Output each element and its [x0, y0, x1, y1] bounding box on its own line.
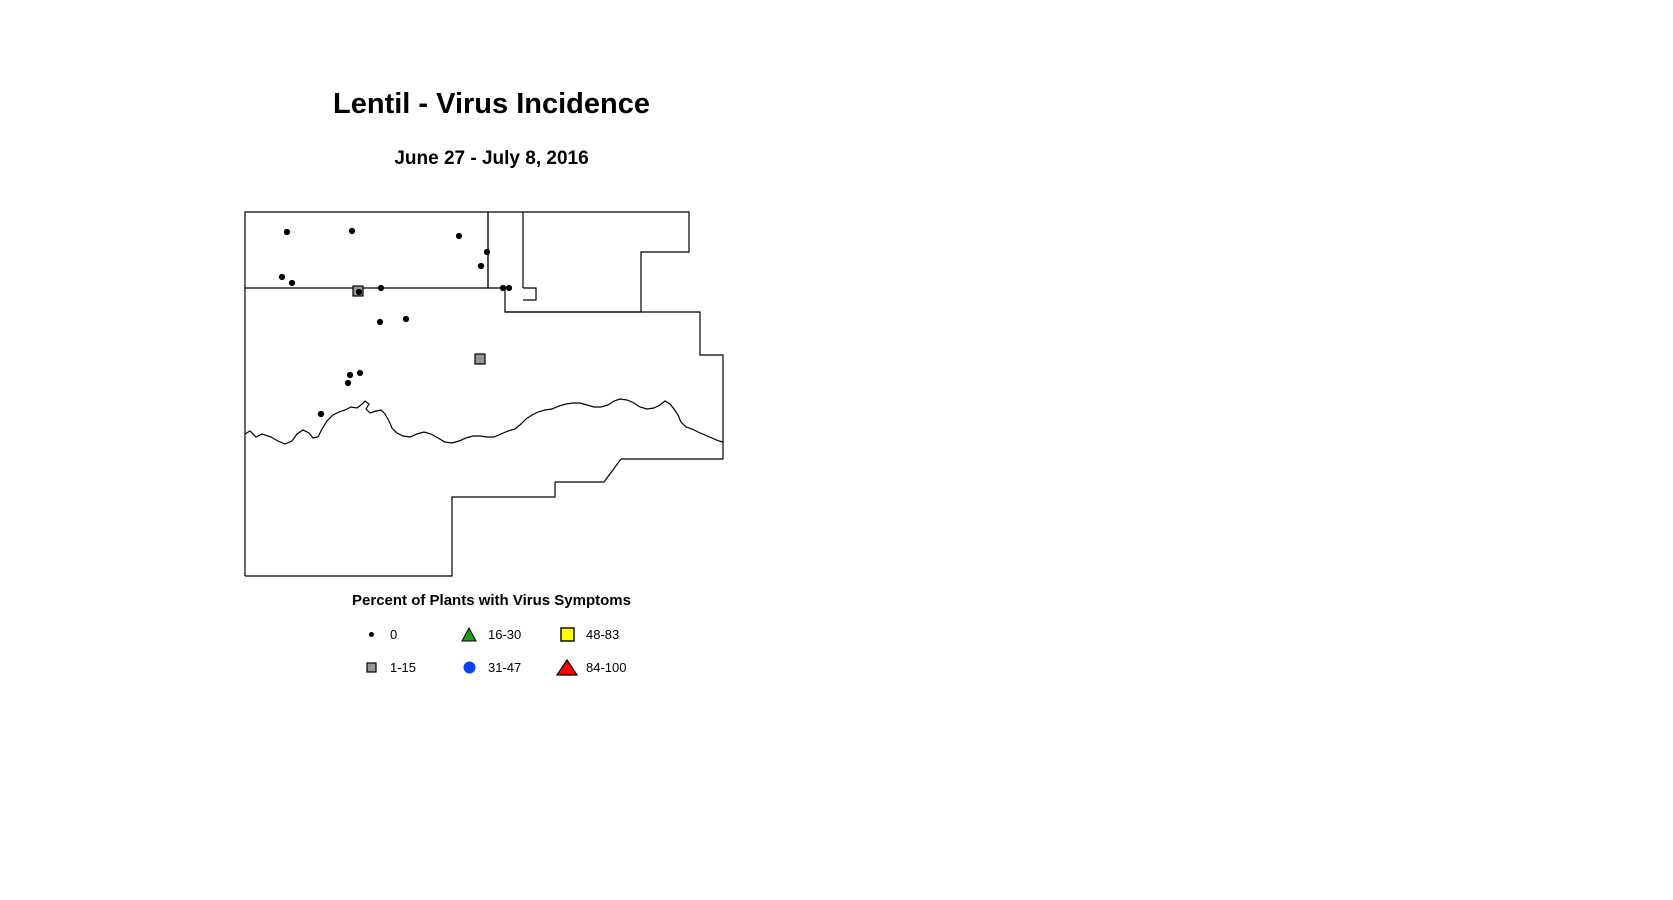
legend-item-1-15: 1-15 — [360, 659, 458, 677]
map-marker — [318, 411, 324, 417]
legend-square-gray-icon — [360, 659, 382, 677]
legend-label: 31-47 — [488, 660, 521, 675]
legend-label: 84-100 — [586, 660, 626, 675]
legend-dot-icon — [360, 626, 382, 644]
legend-circle-blue-icon — [458, 659, 480, 677]
legend-label: 16-30 — [488, 627, 521, 642]
map-marker — [349, 228, 355, 234]
legend-item-31-47: 31-47 — [458, 659, 556, 677]
legend-label: 1-15 — [390, 660, 416, 675]
legend-row: 0 16-30 48-83 — [360, 618, 690, 651]
map-markers — [279, 228, 512, 417]
map-marker — [475, 354, 485, 364]
map-marker — [378, 285, 384, 291]
map-marker — [377, 319, 383, 325]
legend-triangle-red-icon — [556, 659, 578, 677]
map-marker — [289, 280, 295, 286]
legend-item-16-30: 16-30 — [458, 626, 556, 644]
map-marker — [347, 372, 353, 378]
legend-item-48-83: 48-83 — [556, 626, 654, 644]
legend-row: 1-15 31-47 84-100 — [360, 651, 690, 684]
legend-label: 48-83 — [586, 627, 619, 642]
map-marker — [279, 274, 285, 280]
map-marker — [500, 285, 506, 291]
map-marker — [403, 316, 409, 322]
map-marker — [506, 285, 512, 291]
legend-triangle-green-icon — [458, 626, 480, 644]
map-marker — [284, 229, 290, 235]
map-marker — [356, 289, 362, 295]
map-markers-layer — [0, 0, 1673, 900]
map-figure: Lentil - Virus Incidence June 27 - July … — [0, 0, 1673, 900]
legend: 0 16-30 48-83 1-15 — [360, 618, 690, 684]
legend-square-yellow-icon — [556, 626, 578, 644]
map-marker — [478, 263, 484, 269]
map-marker — [357, 370, 363, 376]
legend-item-0: 0 — [360, 626, 458, 644]
map-marker — [456, 233, 462, 239]
map-marker — [345, 380, 351, 386]
legend-item-84-100: 84-100 — [556, 659, 654, 677]
legend-label: 0 — [390, 627, 397, 642]
map-marker — [484, 249, 490, 255]
legend-title: Percent of Plants with Virus Symptoms — [0, 592, 983, 609]
